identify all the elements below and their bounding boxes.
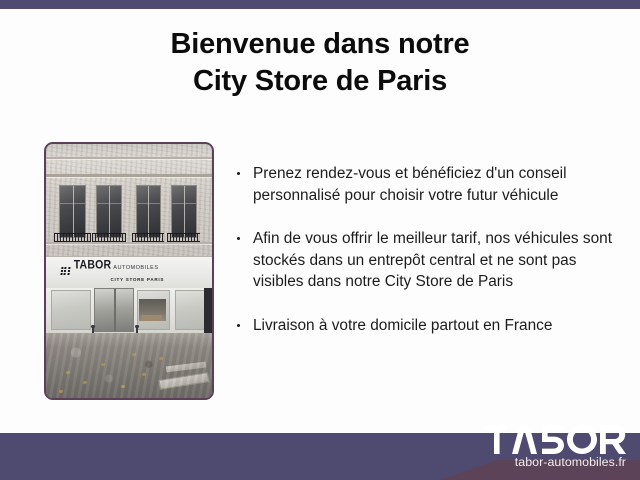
bullet-dot-icon bbox=[237, 172, 240, 175]
curb-stone bbox=[158, 372, 209, 390]
facade-window bbox=[59, 185, 86, 238]
list-item: Prenez rendez-vous et bénéficiez d'un co… bbox=[234, 163, 626, 206]
balcony-railing bbox=[132, 233, 164, 242]
tabor-logo-icon bbox=[485, 425, 626, 454]
balcony-railing bbox=[92, 233, 125, 242]
top-accent-bar bbox=[0, 0, 640, 9]
facade-window bbox=[96, 185, 123, 238]
sidewalk bbox=[46, 333, 212, 398]
storefront-photo: TABOR AUTOMOBILES CITY STORE PARIS bbox=[44, 142, 214, 400]
page-title: Bienvenue dans notre City Store de Paris bbox=[0, 26, 640, 100]
bullet-dot-icon bbox=[237, 237, 240, 240]
list-item-text: Livraison à votre domicile partout en Fr… bbox=[253, 317, 552, 334]
page-title-line-2: City Store de Paris bbox=[0, 63, 640, 100]
storefront-sign-subtitle: CITY STORE PARIS bbox=[61, 278, 199, 283]
storefront-sign-brand: TABOR bbox=[74, 260, 112, 272]
facade-window bbox=[136, 185, 161, 238]
curb-stone bbox=[165, 361, 205, 372]
logo-letter-t-icon bbox=[485, 425, 509, 454]
facade-window bbox=[171, 185, 198, 238]
logo-letter-a-icon bbox=[512, 425, 537, 454]
bullet-dot-icon bbox=[237, 324, 240, 327]
website-url: tabor-automobiles.fr bbox=[485, 455, 626, 469]
presentation-slide: Bienvenue dans notre City Store de Paris bbox=[0, 0, 640, 480]
bullet-list: Prenez rendez-vous et bénéficiez d'un co… bbox=[234, 163, 626, 336]
list-item: Livraison à votre domicile partout en Fr… bbox=[234, 315, 626, 337]
storefront-sign-category: AUTOMOBILES bbox=[113, 266, 158, 272]
shop-window-pane bbox=[175, 290, 205, 329]
store-glass-front bbox=[46, 288, 212, 334]
logo-letter-b-icon bbox=[540, 425, 564, 454]
list-item-text: Prenez rendez-vous et bénéficiez d'un co… bbox=[253, 165, 567, 204]
page-title-line-1: Bienvenue dans notre bbox=[0, 26, 640, 63]
shop-desk bbox=[141, 315, 163, 321]
brand-logo: tabor-automobiles.fr bbox=[485, 425, 626, 469]
list-item: Afin de vous offrir le meilleur tarif, n… bbox=[234, 228, 626, 293]
facade-cornice bbox=[46, 174, 212, 177]
shop-side-panel bbox=[204, 288, 212, 334]
facade-cornice bbox=[46, 242, 212, 244]
storefront-photo-image: TABOR AUTOMOBILES CITY STORE PARIS bbox=[46, 144, 212, 398]
logo-letter-r-icon bbox=[600, 425, 626, 454]
logo-dots-icon bbox=[60, 267, 70, 275]
storefront-sign: TABOR AUTOMOBILES CITY STORE PARIS bbox=[46, 256, 212, 290]
shop-window-pane bbox=[51, 290, 91, 329]
shop-door bbox=[94, 288, 134, 332]
logo-letter-o-icon bbox=[567, 425, 597, 454]
balcony-railing bbox=[167, 233, 200, 242]
list-item-text: Afin de vous offrir le meilleur tarif, n… bbox=[253, 230, 612, 290]
facade-cornice bbox=[46, 157, 212, 159]
balcony-railing bbox=[54, 233, 91, 242]
